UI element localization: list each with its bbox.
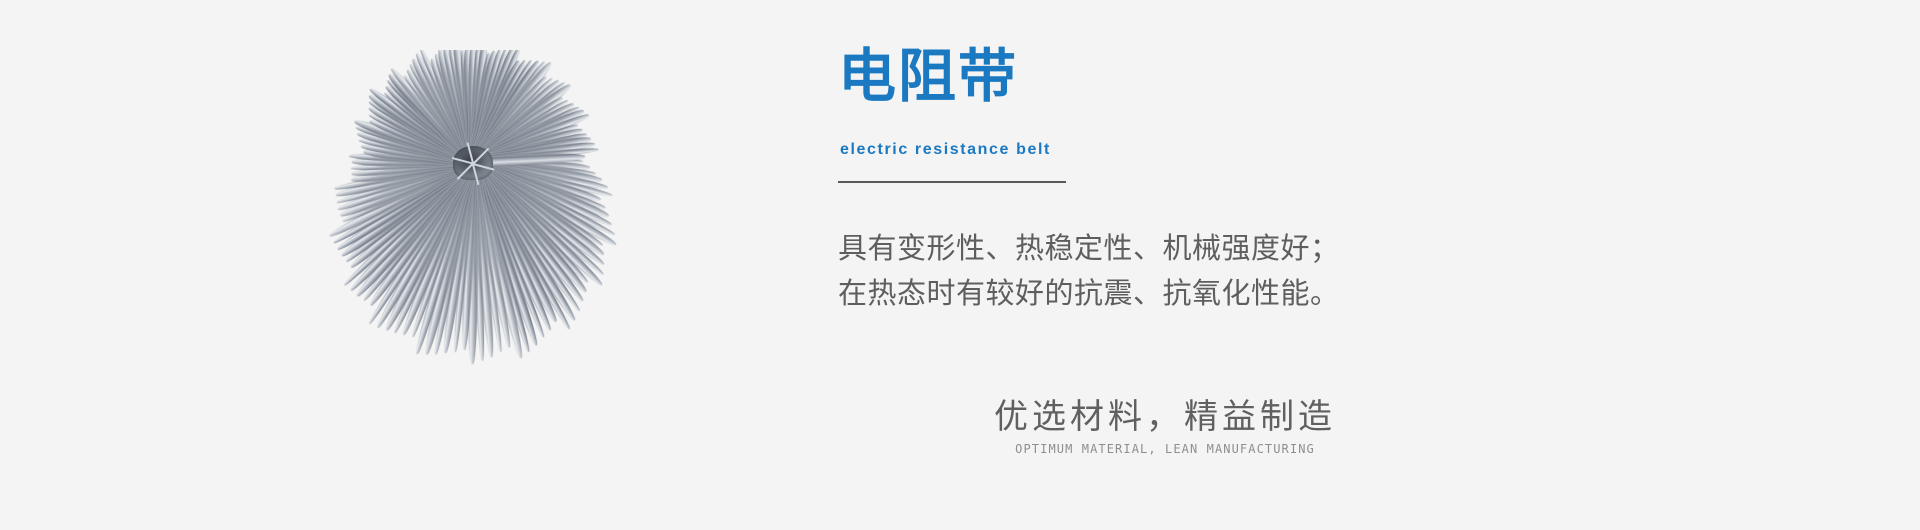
description-line-2: 在热态时有较好的抗震、抗氧化性能。 [838, 272, 1458, 317]
title-divider [838, 181, 1066, 183]
slogan-chinese: 优选材料，精益制造 [955, 395, 1375, 439]
wire-strand [451, 157, 473, 164]
description-line-1: 具有变形性、热稳定性、机械强度好； [838, 227, 1458, 272]
slogan-block: 优选材料，精益制造 OPTIMUM MATERIAL, LEAN MANUFAC… [955, 395, 1375, 457]
wire-strand [456, 163, 473, 180]
slogan-english: OPTIMUM MATERIAL, LEAN MANUFACTURING [955, 442, 1375, 457]
product-description: 具有变形性、热稳定性、机械强度好； 在热态时有较好的抗震、抗氧化性能。 [838, 227, 1458, 317]
product-banner: 电阻带 electric resistance belt 具有变形性、热稳定性、… [0, 0, 1920, 530]
product-image [295, 50, 650, 430]
page-subtitle: electric resistance belt [840, 140, 1051, 160]
wire-strand [472, 148, 489, 165]
resistance-belt-photo [295, 50, 650, 430]
hub-wire-tie [450, 143, 496, 183]
wire-strand [472, 164, 479, 186]
page-title: 电阻带 [838, 44, 1018, 110]
